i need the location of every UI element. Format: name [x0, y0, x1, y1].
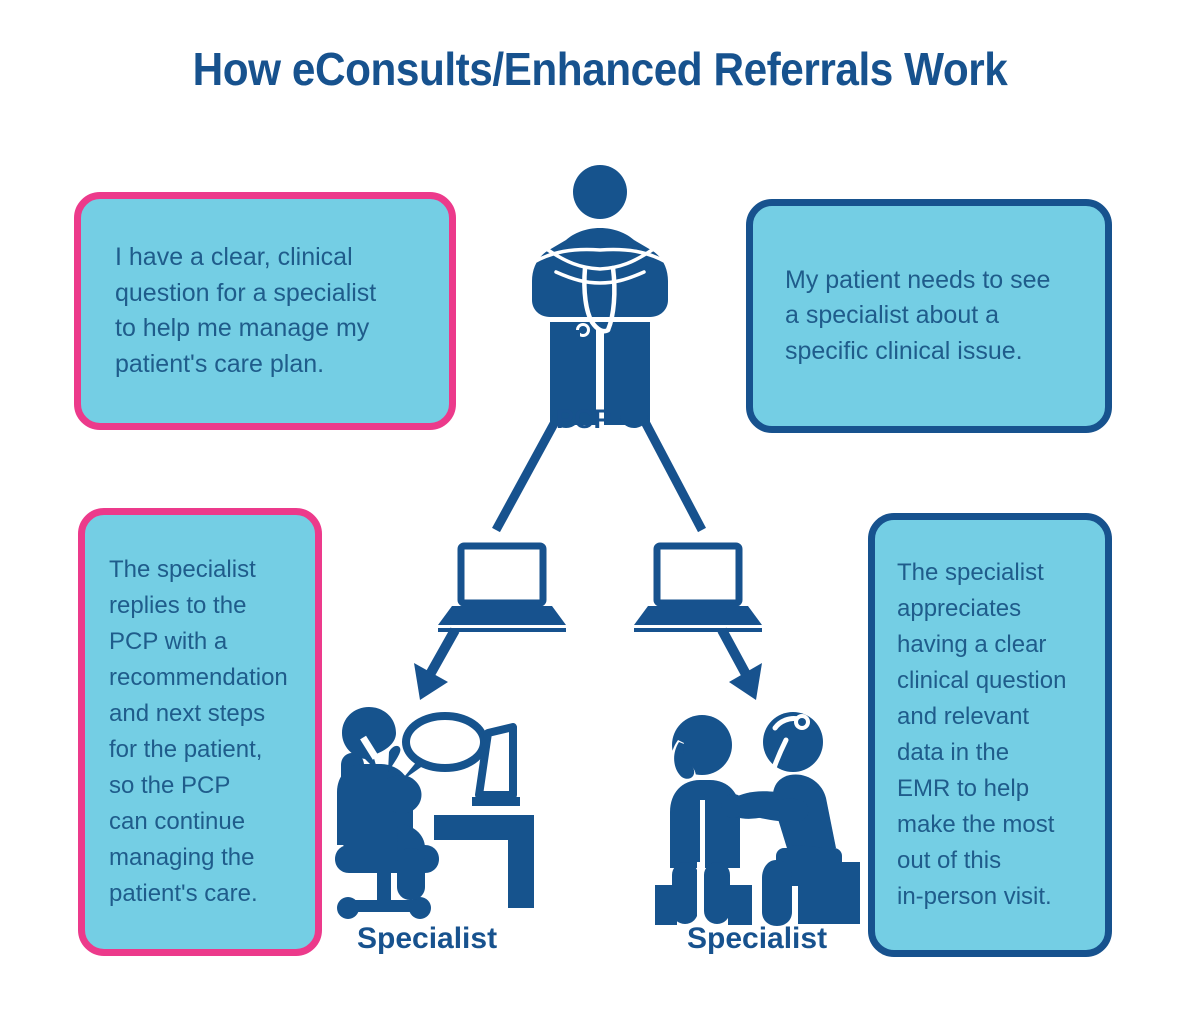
callout-bottom-left-text: The specialist replies to the PCP with a…: [109, 552, 297, 912]
pcp-label: PCP: [556, 404, 612, 435]
callout-top-right: My patient needs to see a specialist abo…: [746, 199, 1112, 433]
arrow-down-left-icon: [414, 630, 455, 700]
specialist-left-label: Specialist: [357, 922, 497, 956]
callout-top-left-text: I have a clear, clinical question for a …: [115, 240, 419, 382]
laptop-icon-right: [634, 546, 762, 632]
laptop-icon-left: [438, 546, 566, 632]
infographic-canvas: How eConsults/Enhanced Referrals Work: [0, 0, 1200, 1020]
specialist-right-label: Specialist: [687, 922, 827, 956]
connector-line-left: [496, 420, 556, 530]
specialist-at-desk-icon: [335, 707, 534, 919]
callout-bottom-right-text: The specialist appreciates having a clea…: [897, 555, 1089, 915]
callout-bottom-left: The specialist replies to the PCP with a…: [78, 508, 322, 956]
callout-top-left: I have a clear, clinical question for a …: [74, 192, 456, 430]
connector-line-right: [644, 420, 702, 530]
arrow-down-right-icon: [722, 630, 762, 700]
specialist-examining-patient-icon: [655, 712, 860, 926]
doctor-with-stethoscope-icon: [532, 165, 668, 428]
callout-bottom-right: The specialist appreciates having a clea…: [868, 513, 1112, 957]
page-title: How eConsults/Enhanced Referrals Work: [48, 42, 1152, 96]
callout-top-right-text: My patient needs to see a specialist abo…: [785, 263, 1081, 370]
